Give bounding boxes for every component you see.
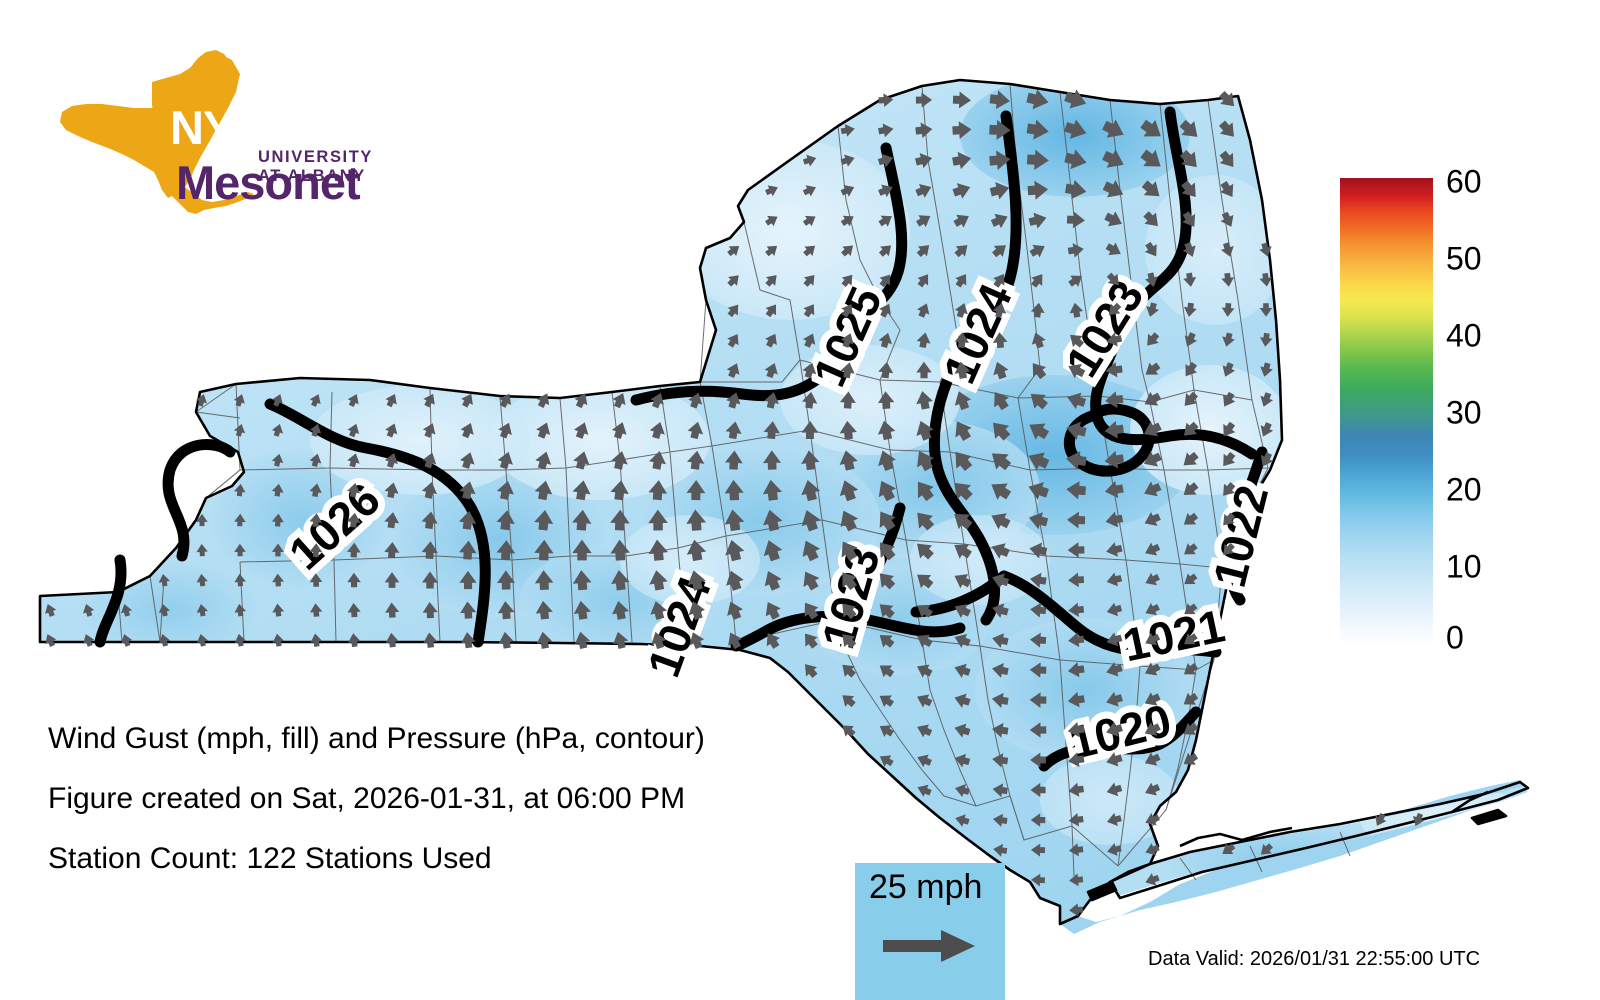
- figure-created-time: Figure created on Sat, 2026-01-31, at 06…: [48, 782, 685, 816]
- colorbar-tick-40: 40: [1446, 318, 1482, 355]
- colorbar-tick-20: 20: [1446, 472, 1482, 509]
- colorbar-tick-10: 10: [1446, 549, 1482, 586]
- wind-vector-legend: 25 mph: [855, 863, 1005, 1000]
- colorbar-tick-0: 0: [1446, 620, 1464, 657]
- logo-tagline: UNIVERSITY AT ALBANY: [258, 148, 398, 186]
- colorbar-tick-50: 50: [1446, 241, 1482, 278]
- colorbar-gradient: [1340, 178, 1433, 646]
- figure-title: Wind Gust (mph, fill) and Pressure (hPa,…: [48, 722, 705, 756]
- station-count: Station Count: 122 Stations Used: [48, 842, 492, 876]
- logo-nys-text: NYS: [170, 100, 264, 155]
- data-valid-timestamp: Data Valid: 2026/01/31 22:55:00 UTC: [1148, 948, 1480, 971]
- colorbar-tick-30: 30: [1446, 395, 1482, 432]
- wind-gust-colorbar: [1340, 178, 1433, 646]
- wind-arrow-icon: [883, 926, 978, 966]
- wind-legend-label: 25 mph: [869, 868, 982, 907]
- colorbar-tick-60: 60: [1446, 164, 1482, 201]
- nys-mesonet-logo: NYSMesonet UNIVERSITY AT ALBANY: [48, 48, 398, 228]
